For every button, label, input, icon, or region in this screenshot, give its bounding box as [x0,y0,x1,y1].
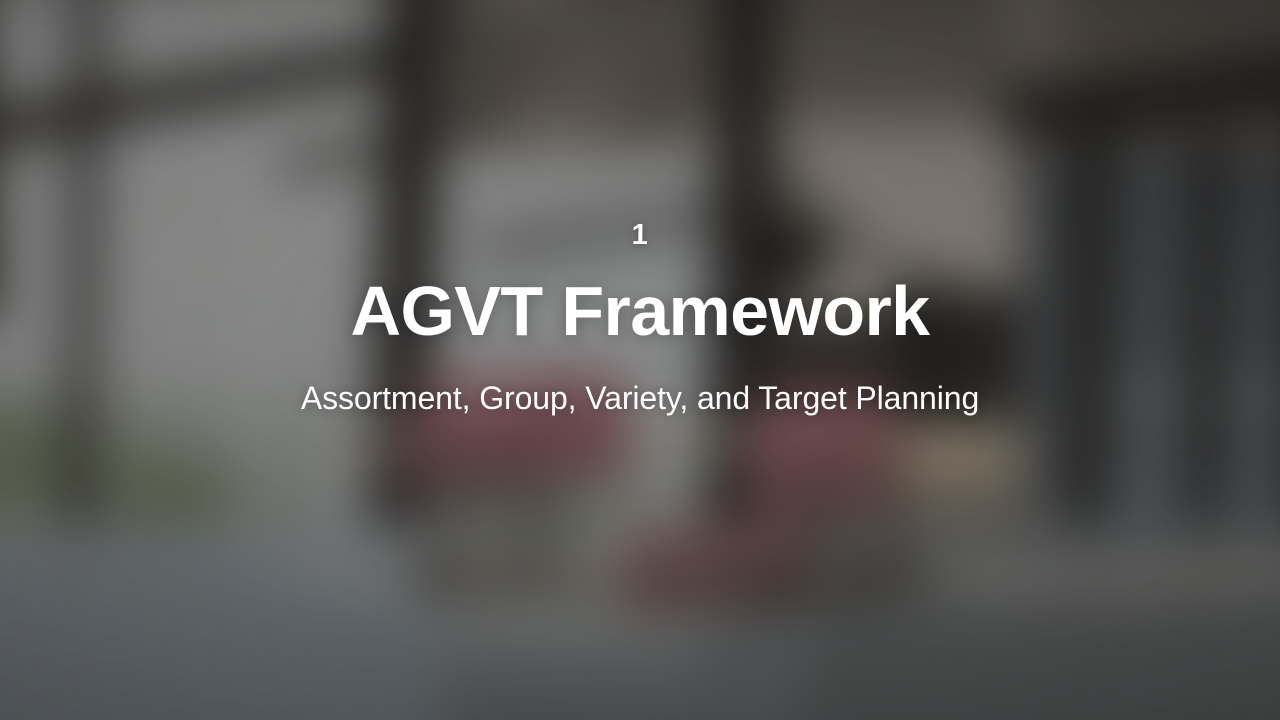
page-title: AGVT Framework [351,276,930,347]
slide-content: 1 AGVT Framework Assortment, Group, Vari… [0,0,1280,720]
slide-number: 1 [632,221,649,250]
title-slide: 1 AGVT Framework Assortment, Group, Vari… [0,0,1280,720]
slide-subtitle: Assortment, Group, Variety, and Target P… [301,378,979,418]
